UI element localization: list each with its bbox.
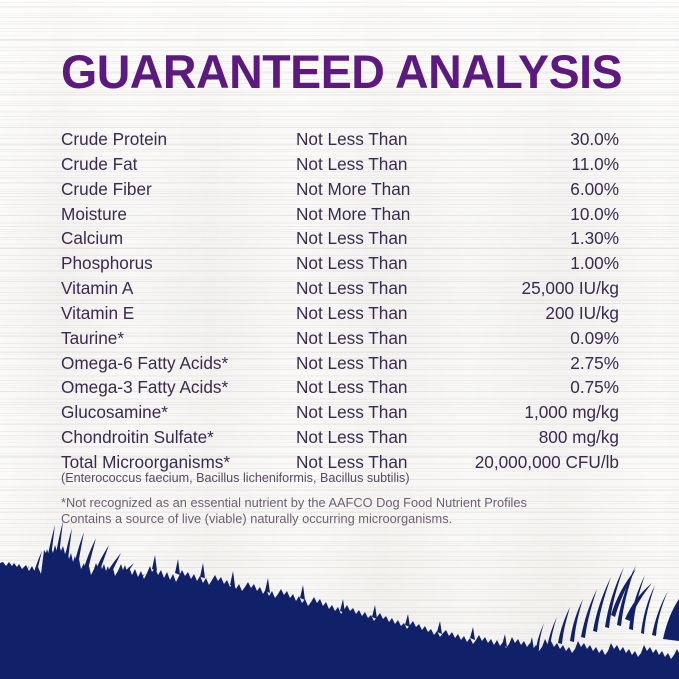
nutrient-qualifier: Not More Than [296, 202, 410, 227]
nutrient-qualifier: Not Less Than [296, 375, 407, 400]
table-row: Crude FatNot Less Than11.0% [61, 152, 619, 177]
guaranteed-analysis-panel: GUARANTEED ANALYSIS Crude ProteinNot Les… [0, 0, 679, 679]
table-row: CalciumNot Less Than1.30% [61, 226, 619, 251]
nutrient-name: Chondroitin Sulfate* [61, 425, 214, 450]
nutrient-qualifier: Not More Than [296, 177, 410, 202]
table-row: Omega-3 Fatty Acids*Not Less Than0.75% [61, 375, 619, 400]
nutrient-amount: 25,000 IU/kg [522, 276, 619, 301]
nutrient-amount: 0.09% [570, 326, 619, 351]
nutrient-name: Omega-6 Fatty Acids* [61, 351, 228, 376]
nutrient-name: Crude Protein [61, 127, 167, 152]
table-row: Vitamin ANot Less Than25,000 IU/kg [61, 276, 619, 301]
nutrient-name: Phosphorus [61, 251, 153, 276]
table-row: MoistureNot More Than10.0% [61, 202, 619, 227]
table-row: Crude FiberNot More Than6.00% [61, 177, 619, 202]
nutrient-amount: 800 mg/kg [539, 425, 619, 450]
nutrient-name: Vitamin E [61, 301, 134, 326]
nutrient-amount: 1.00% [570, 251, 619, 276]
nutrient-qualifier: Not Less Than [296, 127, 407, 152]
nutrient-amount: 0.75% [570, 375, 619, 400]
grass-silhouette-icon [0, 519, 679, 679]
nutrient-name: Crude Fiber [61, 177, 152, 202]
nutrient-amount: 11.0% [572, 152, 619, 177]
nutrient-qualifier: Not Less Than [296, 425, 407, 450]
nutrient-qualifier: Not Less Than [296, 351, 407, 376]
nutrient-amount: 1.30% [570, 226, 619, 251]
nutrient-amount: 2.75% [570, 351, 619, 376]
table-row: Crude ProteinNot Less Than30.0% [61, 127, 619, 152]
nutrient-amount: 20,000,000 CFU/lb [475, 450, 619, 475]
nutrient-qualifier: Not Less Than [296, 301, 407, 326]
nutrient-qualifier: Not Less Than [296, 152, 407, 177]
nutrient-name: Moisture [61, 202, 127, 227]
table-row: PhosphorusNot Less Than1.00% [61, 251, 619, 276]
nutrient-name: Crude Fat [61, 152, 137, 177]
nutrient-amount: 200 IU/kg [545, 301, 619, 326]
nutrient-amount: 1,000 mg/kg [524, 400, 619, 425]
table-row: Glucosamine*Not Less Than1,000 mg/kg [61, 400, 619, 425]
nutrient-name: Omega-3 Fatty Acids* [61, 375, 228, 400]
nutrient-qualifier: Not Less Than [296, 326, 407, 351]
nutrient-amount: 10.0% [570, 202, 619, 227]
nutrient-amount: 30.0% [570, 127, 619, 152]
table-row: Vitamin ENot Less Than200 IU/kg [61, 301, 619, 326]
nutrient-name: Vitamin A [61, 276, 133, 301]
nutrient-qualifier: Not Less Than [296, 251, 407, 276]
guaranteed-analysis-table: Crude ProteinNot Less Than30.0%Crude Fat… [61, 127, 619, 475]
footnote-line-1: *Not recognized as an essential nutrient… [61, 495, 527, 511]
page-title: GUARANTEED ANALYSIS [61, 46, 622, 98]
nutrient-qualifier: Not Less Than [296, 400, 407, 425]
nutrient-name: Calcium [61, 226, 123, 251]
nutrient-name: Glucosamine* [61, 400, 168, 425]
table-row: Taurine*Not Less Than0.09% [61, 326, 619, 351]
nutrient-amount: 6.00% [570, 177, 619, 202]
microorganisms-note: (Enterococcus faecium, Bacillus lichenif… [61, 470, 410, 487]
nutrient-name: Taurine* [61, 326, 124, 351]
nutrient-qualifier: Not Less Than [296, 276, 407, 301]
table-row: Omega-6 Fatty Acids*Not Less Than2.75% [61, 351, 619, 376]
nutrient-qualifier: Not Less Than [296, 226, 407, 251]
table-row: Chondroitin Sulfate*Not Less Than800 mg/… [61, 425, 619, 450]
